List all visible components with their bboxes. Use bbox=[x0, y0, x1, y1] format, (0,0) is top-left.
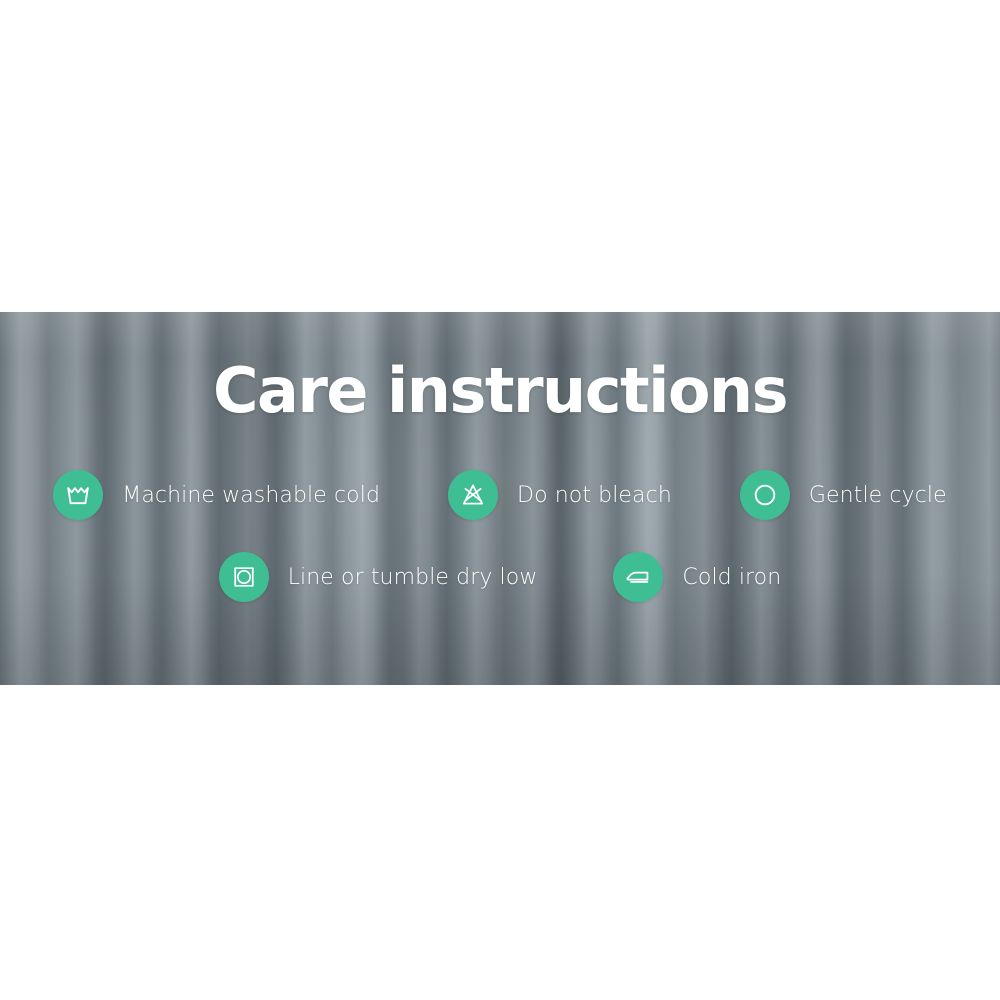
care-instructions-banner: Care instructions Machine washable cold bbox=[0, 312, 1000, 685]
iron-icon bbox=[613, 552, 663, 602]
page-root: Care instructions Machine washable cold bbox=[0, 0, 1000, 1000]
care-item-label: Do not bleach bbox=[517, 483, 672, 508]
tumble-dry-icon bbox=[219, 552, 269, 602]
care-item-cold-iron: Cold iron bbox=[613, 552, 781, 602]
care-item-label: Machine washable cold bbox=[122, 483, 380, 508]
page-title: Care instructions bbox=[0, 360, 1000, 422]
wash-tub-icon bbox=[53, 470, 103, 520]
care-item-label: Gentle cycle bbox=[809, 483, 947, 508]
care-row-1: Machine washable cold Do not bleach bbox=[0, 470, 1000, 520]
care-row-2: Line or tumble dry low Cold iron bbox=[0, 552, 1000, 602]
care-item-label: Line or tumble dry low bbox=[288, 565, 538, 590]
no-bleach-triangle-icon bbox=[448, 470, 498, 520]
care-item-do-not-bleach: Do not bleach bbox=[448, 470, 672, 520]
care-item-label: Cold iron bbox=[682, 565, 781, 590]
gentle-cycle-circle-icon bbox=[740, 470, 790, 520]
care-item-gentle-cycle: Gentle cycle bbox=[740, 470, 947, 520]
banner-content: Care instructions Machine washable cold bbox=[0, 312, 1000, 685]
care-item-line-or-tumble-dry-low: Line or tumble dry low bbox=[219, 552, 538, 602]
care-item-machine-washable-cold: Machine washable cold bbox=[53, 470, 380, 520]
